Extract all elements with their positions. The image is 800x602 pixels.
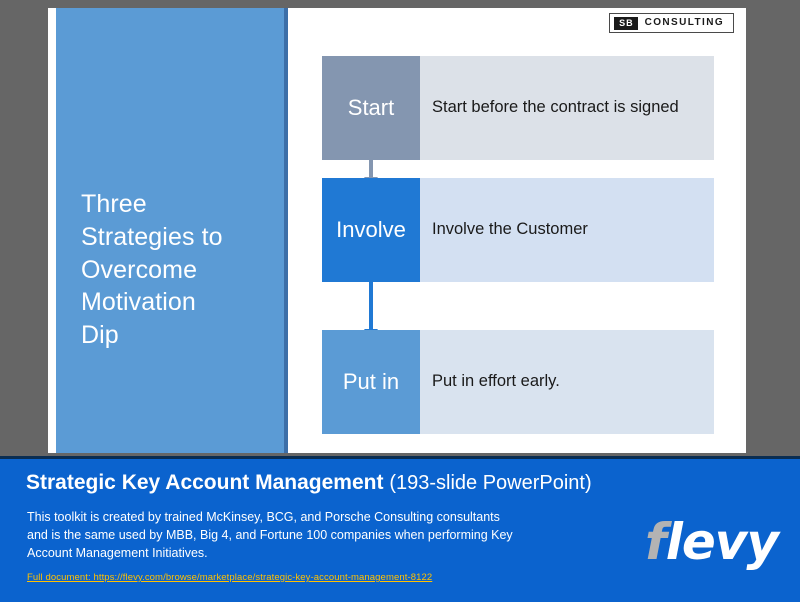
- flevy-logo: flevy: [645, 517, 778, 567]
- flevy-footer-banner: Strategic Key Account Management (193-sl…: [0, 456, 800, 602]
- flow-label-put-in: Put in: [322, 330, 420, 434]
- footer-title-main: Strategic Key Account Management: [26, 471, 383, 494]
- flevy-logo-levy: levy: [666, 513, 778, 571]
- flow-description-put-in: Put in effort early.: [420, 330, 714, 434]
- footer-title-sub: (193-slide PowerPoint): [389, 472, 591, 494]
- sb-consulting-logo: SB CONSULTING: [609, 13, 734, 33]
- flow-row-put-in: Put in Put in effort early.: [322, 330, 714, 434]
- flevy-logo-f: f: [645, 513, 666, 571]
- arrow-shaft: [369, 160, 373, 177]
- flow-description-start: Start before the contract is signed: [420, 56, 714, 160]
- footer-description: This toolkit is created by trained McKin…: [27, 509, 557, 562]
- slide-title-panel: Three Strategies to Overcome Motivation …: [56, 8, 288, 453]
- slide-canvas: Three Strategies to Overcome Motivation …: [48, 8, 746, 453]
- sb-logo-mark: SB: [614, 17, 638, 30]
- flow-description-involve: Involve the Customer: [420, 178, 714, 282]
- flow-row-start: Start Start before the contract is signe…: [322, 56, 714, 160]
- flow-label-involve: Involve: [322, 178, 420, 282]
- page-title: Three Strategies to Overcome Motivation …: [81, 188, 271, 352]
- arrow-shaft: [369, 282, 373, 329]
- screenshot-root: Three Strategies to Overcome Motivation …: [0, 0, 800, 599]
- sb-logo-wordmark: CONSULTING: [645, 18, 724, 28]
- footer-title: Strategic Key Account Management (193-sl…: [26, 471, 592, 495]
- flow-label-start: Start: [322, 56, 420, 160]
- footer-document-link[interactable]: Full document: https://flevy.com/browse/…: [27, 572, 432, 583]
- flow-row-involve: Involve Involve the Customer: [322, 178, 714, 282]
